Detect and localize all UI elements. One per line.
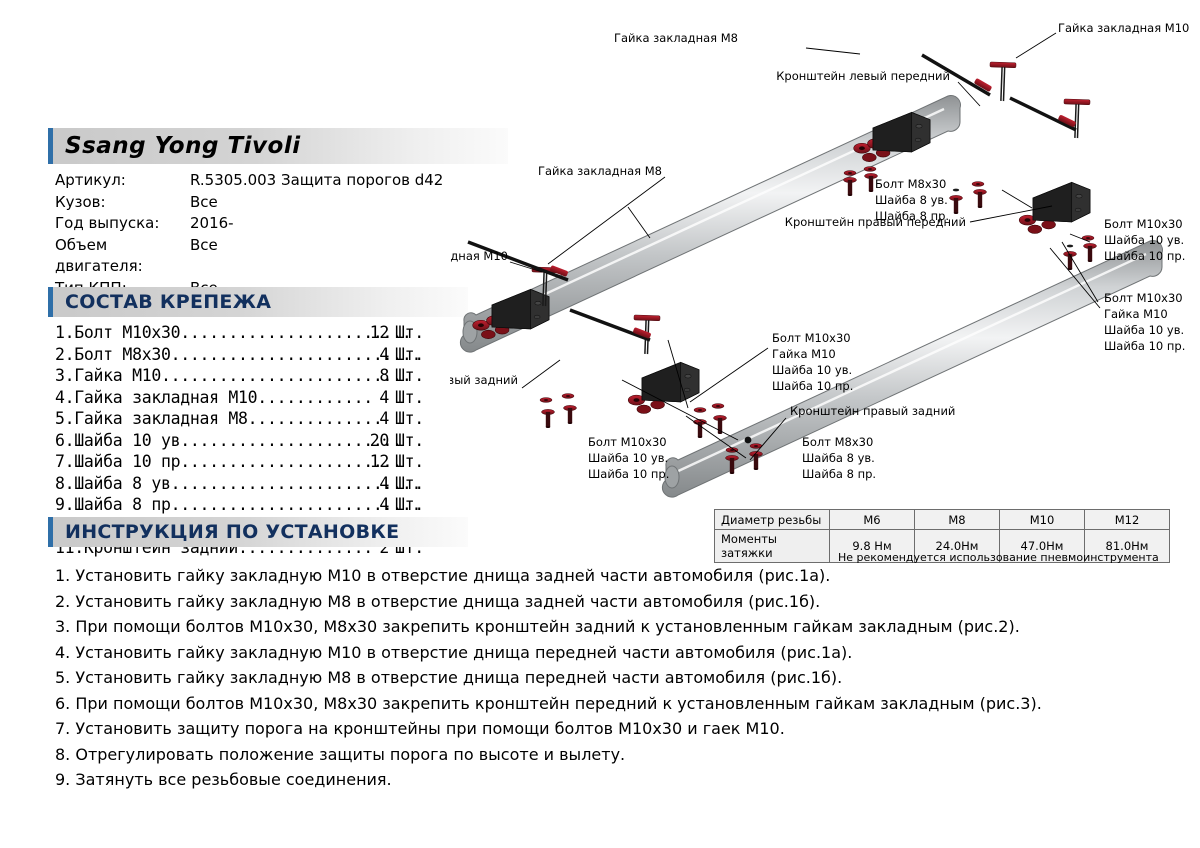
- parts-list-item: 4.Гайка закладная М10............4Шт.: [55, 387, 429, 409]
- bracket-right-front-part: [1019, 182, 1090, 233]
- callout-washer-10-uv-r2: Шайба 10 ув.: [1104, 323, 1184, 337]
- part-unit: Шт.: [389, 451, 429, 473]
- part-qty: 4: [355, 473, 389, 495]
- rivet-nut-m8-left2: [570, 310, 651, 340]
- part-name: 4.Гайка закладная М10............: [55, 387, 355, 409]
- parts-list-item: 1.Болт М10х30........................12Ш…: [55, 322, 429, 344]
- part-name: 1.Болт М10х30........................: [55, 322, 355, 344]
- page-title: Ssang Yong Tivoli: [53, 133, 301, 159]
- table-row: Диаметр резьбы M6 M8 M10 M12: [715, 510, 1170, 530]
- callout-bolt-m10x30-r2: Болт М10х30: [1104, 291, 1183, 305]
- part-name: 9.Шайба 8 пр..........................: [55, 494, 355, 516]
- callout-washer-10-uv-r1: Шайба 10 ув.: [1104, 233, 1184, 247]
- part-unit: Шт.: [389, 322, 429, 344]
- part-unit: Шт.: [389, 365, 429, 387]
- spec-value: Все: [190, 235, 218, 278]
- exploded-assembly-diagram: Гайка закладная М8 Гайка закладная М10 К…: [450, 10, 1200, 510]
- spec-row: Кузов: Все: [55, 192, 443, 214]
- instruction-step: 3. При помощи болтов М10х30, М8х30 закре…: [55, 614, 1185, 640]
- rivet-nut-m10-top: [989, 62, 1016, 101]
- part-unit: Шт.: [389, 408, 429, 430]
- part-name: 8.Шайба 8 ув..........................: [55, 473, 355, 495]
- part-unit: Шт.: [389, 344, 429, 366]
- part-qty: 12: [355, 451, 389, 473]
- part-name: 3.Гайка М10..........................: [55, 365, 355, 387]
- callout-washer-8-pr-b: Шайба 8 пр.: [802, 467, 876, 481]
- spec-label: Объем двигателя:: [55, 235, 190, 278]
- callout-washer-8-uv-b: Шайба 8 ув.: [802, 451, 875, 465]
- thread-cell: M6: [830, 510, 915, 530]
- bracket-right-rear-part: [628, 362, 699, 413]
- callout-nut-m8-left: Гайка закладная М8: [538, 164, 662, 178]
- parts-list-item: 9.Шайба 8 пр..........................4Ш…: [55, 494, 429, 516]
- callout-bracket-left-front: Кронштейн левый передний: [776, 69, 950, 83]
- instruction-step: 9. Затянуть все резьбовые соединения.: [55, 767, 1185, 793]
- document-page: Ssang Yong Tivoli Артикул: R.5305.003 За…: [0, 0, 1200, 848]
- instruction-step: 5. Установить гайку закладную М8 в отвер…: [55, 665, 1185, 691]
- part-qty: 20: [355, 430, 389, 452]
- spec-label: Артикул:: [55, 170, 190, 192]
- torque-row-label: Диаметр резьбы: [715, 510, 830, 530]
- part-qty: 4: [355, 344, 389, 366]
- instructions-section-header: ИНСТРУКЦИЯ ПО УСТАНОВКЕ: [48, 517, 468, 547]
- callout-bracket-right-front: Кронштейн правый передний: [785, 215, 966, 229]
- spec-value: 2016-: [190, 213, 234, 235]
- callout-washer-10-uv-c: Шайба 10 ув.: [772, 363, 852, 377]
- spec-value: R.5305.003 Защита порогов d42: [190, 170, 443, 192]
- parts-list-item: 2.Болт М8х30..........................4Ш…: [55, 344, 429, 366]
- instruction-step: 8. Отрегулировать положение защиты порог…: [55, 742, 1185, 768]
- part-unit: Шт.: [389, 430, 429, 452]
- callout-washer-10-uv-b: Шайба 10 ув.: [588, 451, 668, 465]
- callout-nut-m10-r2: Гайка М10: [1104, 307, 1168, 321]
- part-name: 6.Шайба 10 ув.......................: [55, 430, 355, 452]
- callout-bracket-left-rear: Кронштейн левый задний: [450, 373, 518, 387]
- callout-bracket-right-rear: Кронштейн правый задний: [790, 404, 955, 418]
- spec-row: Артикул: R.5305.003 Защита порогов d42: [55, 170, 443, 192]
- callout-washer-10-pr-c: Шайба 10 пр.: [772, 379, 853, 393]
- callout-washer-10-pr-r1: Шайба 10 пр.: [1104, 249, 1185, 263]
- part-unit: Шт.: [389, 387, 429, 409]
- part-name: 7.Шайба 10 пр.......................: [55, 451, 355, 473]
- spec-row: Объем двигателя: Все: [55, 235, 443, 278]
- part-qty: 8: [355, 365, 389, 387]
- thread-cell: M8: [915, 510, 1000, 530]
- callout-nut-m10-left: Гайка закладная М10: [450, 249, 508, 263]
- instructions-list: 1. Установить гайку закладную М10 в отве…: [55, 563, 1185, 793]
- instructions-section-title: ИНСТРУКЦИЯ ПО УСТАНОВКЕ: [53, 521, 399, 543]
- callout-bolt-m10x30-c: Болт М10х30: [772, 331, 851, 345]
- vehicle-title-header: Ssang Yong Tivoli: [48, 128, 508, 164]
- callout-nut-m10-top: Гайка закладная М10: [1058, 21, 1189, 35]
- parts-list-item: 8.Шайба 8 ув..........................4Ш…: [55, 473, 429, 495]
- part-qty: 4: [355, 494, 389, 516]
- spec-row: Год выпуска: 2016-: [55, 213, 443, 235]
- part-name: 5.Гайка закладная М8..............: [55, 408, 355, 430]
- parts-section-title: СОСТАВ КРЕПЕЖА: [53, 291, 271, 313]
- spec-label: Кузов:: [55, 192, 190, 214]
- parts-list-item: 6.Шайба 10 ув.......................20Шт…: [55, 430, 429, 452]
- callout-bolt-m10x30-b: Болт М10х30: [588, 435, 667, 449]
- vehicle-spec-table: Артикул: R.5305.003 Защита порогов d42 К…: [55, 170, 443, 299]
- parts-section-header: СОСТАВ КРЕПЕЖА: [48, 287, 468, 317]
- instruction-step: 6. При помощи болтов М10х30, М8х30 закре…: [55, 691, 1185, 717]
- parts-list-item: 3.Гайка М10..........................8Шт…: [55, 365, 429, 387]
- spec-value: Все: [190, 192, 218, 214]
- instruction-step: 2. Установить гайку закладную М8 в отвер…: [55, 589, 1185, 615]
- parts-list-item: 7.Шайба 10 пр.......................12Шт…: [55, 451, 429, 473]
- part-qty: 12: [355, 322, 389, 344]
- spec-label: Год выпуска:: [55, 213, 190, 235]
- instruction-step: 4. Установить гайку закладную М10 в отве…: [55, 640, 1185, 666]
- part-unit: Шт.: [389, 473, 429, 495]
- callout-bolt-m8x30-upper: Болт М8х30: [875, 177, 946, 191]
- part-name: 2.Болт М8х30..........................: [55, 344, 355, 366]
- instruction-step: 7. Установить защиту порога на кронштейн…: [55, 716, 1185, 742]
- callout-washer-10-pr-b: Шайба 10 пр.: [588, 467, 669, 481]
- callout-bolt-m10x30-r1: Болт М10х30: [1104, 217, 1183, 231]
- callout-bolt-m8x30-b: Болт М8х30: [802, 435, 873, 449]
- part-qty: 4: [355, 387, 389, 409]
- parts-list-item: 5.Гайка закладная М8..............4Шт.: [55, 408, 429, 430]
- torque-row-label: Моменты затяжки: [715, 530, 830, 563]
- callout-washer-10-pr-r2: Шайба 10 пр.: [1104, 339, 1185, 353]
- thread-cell: M12: [1085, 510, 1170, 530]
- instruction-step: 1. Установить гайку закладную М10 в отве…: [55, 563, 1185, 589]
- callout-nut-m10-c: Гайка М10: [772, 347, 836, 361]
- callout-nut-m8-top: Гайка закладная М8: [614, 31, 738, 45]
- part-qty: 4: [355, 408, 389, 430]
- part-unit: Шт.: [389, 494, 429, 516]
- hardware-m8-upper: [950, 182, 987, 214]
- torque-note: Не рекомендуется использование пневмоинс…: [838, 551, 1159, 564]
- callout-washer-8-uv-upper: Шайба 8 ув.: [875, 193, 948, 207]
- hardware-m10-left-rear: [540, 394, 577, 428]
- thread-cell: M10: [1000, 510, 1085, 530]
